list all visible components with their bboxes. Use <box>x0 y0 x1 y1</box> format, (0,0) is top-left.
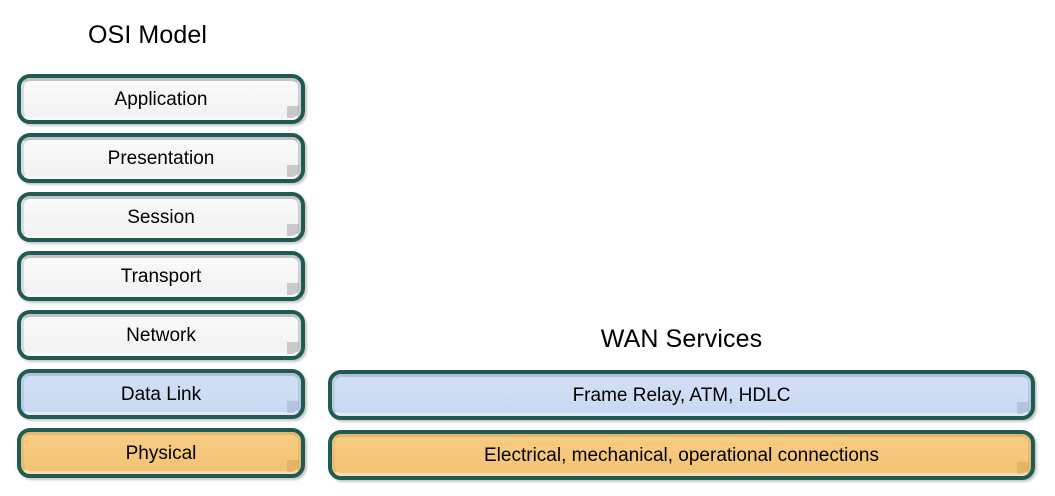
layer-label: Electrical, mechanical, operational conn… <box>484 446 879 465</box>
layer-label: Transport <box>121 267 202 286</box>
wan-services-title: WAN Services <box>328 325 1035 354</box>
osi-layer-stack: Application Presentation Session Transpo… <box>17 74 305 478</box>
wan-layer-physical-services[interactable]: Electrical, mechanical, operational conn… <box>328 430 1035 480</box>
layer-label: Presentation <box>108 149 215 168</box>
osi-layer-physical[interactable]: Physical <box>17 428 305 478</box>
layer-label: Data Link <box>121 385 201 404</box>
osi-layer-network[interactable]: Network <box>17 310 305 360</box>
diagram-canvas: OSI Model WAN Services Application Prese… <box>0 0 1055 496</box>
osi-layer-session[interactable]: Session <box>17 192 305 242</box>
layer-label: Frame Relay, ATM, HDLC <box>573 386 791 405</box>
osi-layer-application[interactable]: Application <box>17 74 305 124</box>
wan-services-stack: Frame Relay, ATM, HDLC Electrical, mecha… <box>328 370 1035 490</box>
osi-layer-transport[interactable]: Transport <box>17 251 305 301</box>
osi-layer-data-link[interactable]: Data Link <box>17 369 305 419</box>
osi-model-title: OSI Model <box>88 21 207 50</box>
osi-layer-presentation[interactable]: Presentation <box>17 133 305 183</box>
layer-label: Network <box>126 326 196 345</box>
wan-layer-data-link-services[interactable]: Frame Relay, ATM, HDLC <box>328 370 1035 420</box>
layer-label: Session <box>127 208 195 227</box>
layer-label: Application <box>115 90 208 109</box>
layer-label: Physical <box>126 444 197 463</box>
